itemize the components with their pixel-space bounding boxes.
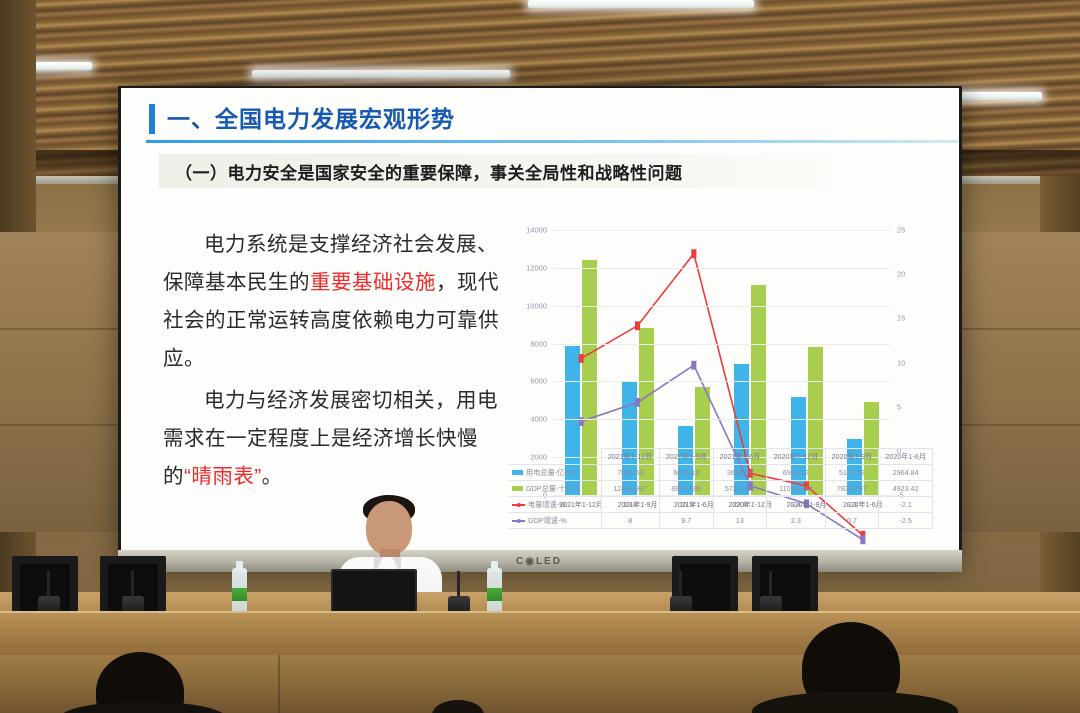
legend-line-swatch-icon (512, 518, 525, 524)
laptop[interactable] (331, 569, 417, 617)
chart-line-marker (579, 354, 584, 363)
paragraph-2: 电力与经济发展密切相关，用电需求在一定程度上是经济增长快慢的“晴雨表”。 (163, 382, 511, 496)
chart-line-marker (635, 321, 640, 330)
chart-y2-tick-label: 20 (897, 270, 905, 279)
para2-highlight: “晴雨表” (184, 465, 262, 488)
chart-gridline (553, 230, 891, 231)
projection-screen[interactable]: 一、全国电力发展宏观形势 （一）电力安全是国家安全的重要保障，事关全局性和战略性… (121, 88, 959, 550)
table-column-header: 2020年1-9月 (825, 449, 879, 465)
table-row-header: GDP总量-十亿元 (509, 481, 601, 497)
slide-subtitle-box: （一）电力安全是国家安全的重要保障，事关全局性和战略性问题 (159, 154, 829, 188)
wall-panel-left (0, 232, 132, 532)
table-cell: 6025.19 (659, 465, 713, 481)
table-cell: 2964.84 (879, 465, 933, 481)
table-cell: 3643.39 (713, 465, 767, 481)
table-row: 电量增速-%13.616.522.93.42.3-2.1 (509, 497, 933, 513)
chart-gridline (553, 381, 891, 382)
table-header-row: 2021年1-12月2021年1-9月2021年1-6月2020年1-12月20… (509, 449, 933, 465)
para1-highlight: 重要基础设施 (310, 271, 436, 294)
presentation-slide: 一、全国电力发展宏观形势 （一）电力安全是国家安全的重要保障，事关全局性和战略性… (121, 88, 959, 550)
table-cell: 7839.707 (825, 481, 879, 497)
microphone[interactable] (122, 596, 144, 612)
chart-y2-tick-label: 15 (897, 314, 905, 323)
table-cell: 12436.967 (601, 481, 659, 497)
table-cell: 2.3 (767, 513, 825, 529)
table-row-header: GDP增速-% (509, 513, 601, 529)
wall-panel-right (948, 232, 1080, 532)
chart-gridline (553, 344, 891, 345)
page-title: 一、全国电力发展宏观形势 (167, 100, 455, 134)
table-cell: 4923.42 (879, 481, 933, 497)
table-cell: 22.9 (713, 497, 767, 513)
led-brand-logo: C◉LED (516, 556, 562, 567)
legend-series-label: GDP总量-十亿元 (526, 484, 580, 493)
room-background: 一、全国电力发展宏观形势 （一）电力安全是国家安全的重要保障，事关全局性和战略性… (0, 0, 1080, 713)
chart-y2-tick-label: 5 (897, 402, 901, 411)
water-bottle[interactable] (487, 568, 502, 614)
chart-y2-tick-label: 25 (897, 226, 905, 235)
table-cell: 7866.63 (601, 465, 659, 481)
desk-seam (278, 655, 280, 713)
legend-bar-swatch-icon (512, 470, 523, 475)
podium-desk (0, 611, 1080, 655)
slide-title-row: 一、全国电力发展宏观形势 (149, 96, 931, 140)
table-cell: 5171.09 (825, 465, 879, 481)
table-cell: 5722.631 (713, 481, 767, 497)
table-row: 用电总量-亿kwh7866.636025.193643.396926.12517… (509, 465, 933, 481)
bottle-label (232, 588, 247, 601)
table-cell: 16.5 (659, 497, 713, 513)
chart-line-marker (691, 361, 696, 370)
table-cell: 0.7 (825, 513, 879, 529)
table-cell: 6926.12 (767, 465, 825, 481)
microphone[interactable] (670, 596, 692, 612)
chart-y-tick-label: 8000 (530, 339, 547, 348)
table-cell: 8 (601, 513, 659, 529)
bottle-label (487, 588, 502, 601)
table-cell: 13.6 (601, 497, 659, 513)
chart-line-marker (635, 398, 640, 407)
ceiling-light (252, 70, 510, 78)
slide-body-text: 电力系统是支撑经济社会发展、保障基本民生的重要基础设施，现代社会的正常运转高度依… (163, 226, 511, 500)
table-column-header: 2021年1-12月 (601, 449, 659, 465)
table-cell: -2.5 (879, 513, 933, 529)
table-column-header: 2020年1-6月 (879, 449, 933, 465)
chart-line-marker (860, 535, 865, 544)
legend-series-label: 用电总量-亿kwh (526, 468, 577, 477)
slide-subtitle: （一）电力安全是国家安全的重要保障，事关全局性和战略性问题 (175, 159, 683, 184)
legend-series-label: GDP增速-% (528, 516, 567, 525)
microphone[interactable] (448, 596, 470, 612)
table-row: GDP增速-%89.7132.30.7-2.5 (509, 513, 933, 529)
chart-y-tick-label: 14000 (526, 226, 547, 235)
table-cell: 13 (713, 513, 767, 529)
ceiling-light (528, 0, 754, 8)
chart-gridline (553, 419, 891, 420)
table-row-header: 电量增速-% (509, 497, 601, 513)
table-cell: 3.4 (767, 497, 825, 513)
table-corner-cell (509, 449, 601, 465)
chart-gridline (553, 268, 891, 269)
table-cell: 11076.094 (767, 481, 825, 497)
chart-y-tick-label: 6000 (530, 377, 547, 386)
table-column-header: 2021年1-6月 (713, 449, 767, 465)
title-accent-bar (149, 104, 155, 134)
chart-gridline (553, 306, 891, 307)
table-column-header: 2021年1-9月 (659, 449, 713, 465)
table-row: GDP总量-十亿元12436.9678800.9865722.63111076.… (509, 481, 933, 497)
legend-bar-swatch-icon (512, 486, 523, 491)
table-column-header: 2020年1-12月 (767, 449, 825, 465)
chart-line-marker (691, 249, 696, 258)
chart-y2-tick-label: 10 (897, 358, 905, 367)
paragraph-1: 电力系统是支撑经济社会发展、保障基本民生的重要基础设施，现代社会的正常运转高度依… (163, 226, 511, 378)
water-bottle[interactable] (232, 568, 247, 614)
table-cell: -2.1 (879, 497, 933, 513)
title-underline (146, 140, 958, 143)
table-cell: 2.3 (825, 497, 879, 513)
legend-line-swatch-icon (512, 502, 525, 508)
chart-y-tick-label: 4000 (530, 415, 547, 424)
chart-data-table: 2021年1-12月2021年1-9月2021年1-6月2020年1-12月20… (509, 448, 933, 529)
table-cell: 9.7 (659, 513, 713, 529)
chart-y-tick-label: 10000 (526, 301, 547, 310)
para2-seg3: 。 (262, 465, 283, 488)
table-cell: 8800.986 (659, 481, 713, 497)
presenter-head (366, 501, 412, 555)
table-row-header: 用电总量-亿kwh (509, 465, 601, 481)
microphone[interactable] (760, 596, 782, 612)
legend-series-label: 电量增速-% (528, 500, 566, 509)
microphone[interactable] (38, 596, 60, 612)
chart-y-tick-label: 12000 (526, 263, 547, 272)
